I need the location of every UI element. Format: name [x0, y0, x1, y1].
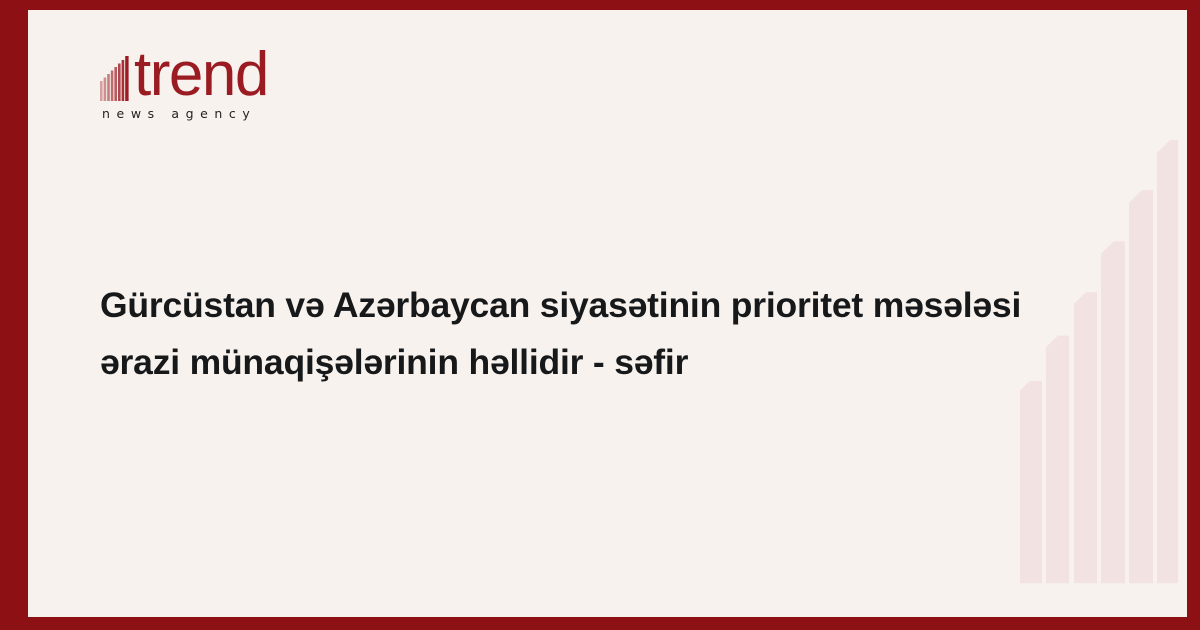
ascending-bars-icon — [100, 51, 134, 101]
article-headline: Gürcüstan və Azərbaycan siyasətinin prio… — [100, 277, 1110, 391]
brand-logo[interactable]: trend news agency — [100, 45, 290, 121]
logo-wordmark: trend — [134, 48, 268, 101]
share-card: trend news agency Gürcüstan və Azərbayca… — [0, 0, 1200, 630]
card-canvas: trend news agency Gürcüstan və Azərbayca… — [28, 10, 1187, 617]
logo-main-row: trend — [100, 45, 290, 101]
